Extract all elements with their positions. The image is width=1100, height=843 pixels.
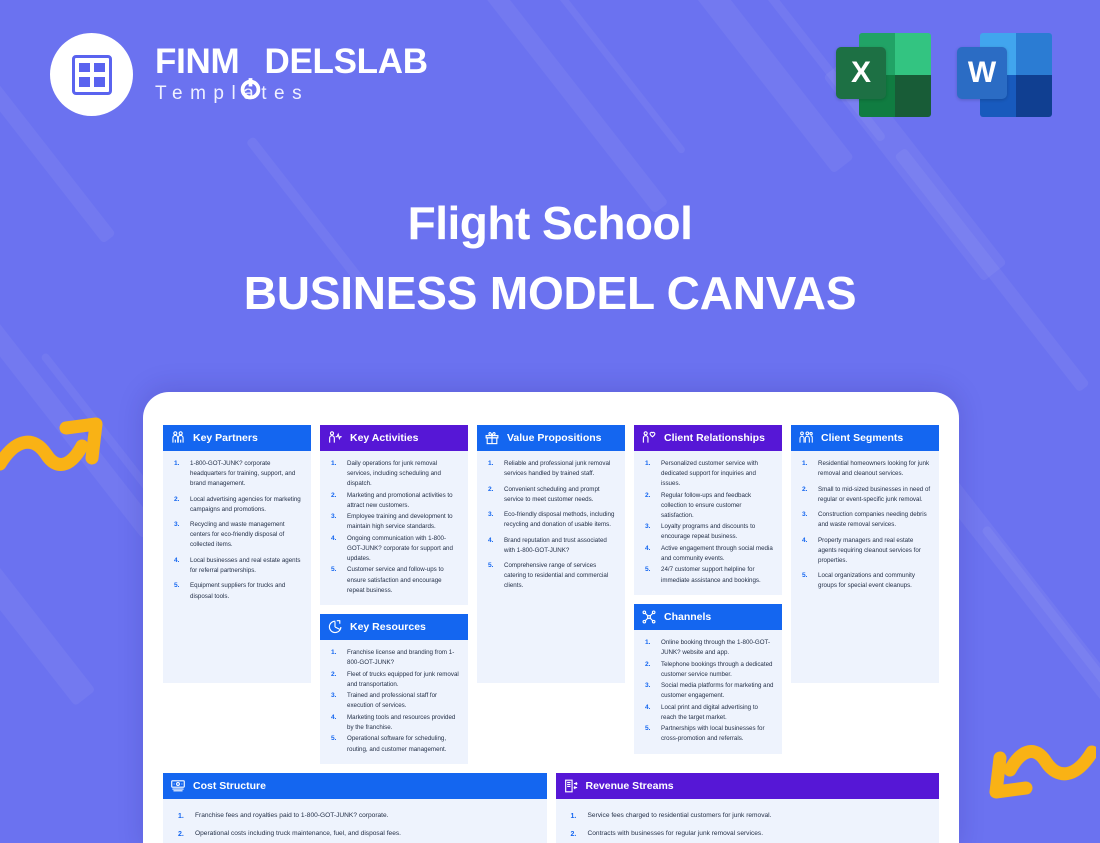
person-activity-icon [327, 430, 343, 446]
list-item: Customer service and follow-ups to ensur… [328, 565, 460, 595]
page-title: Flight School BUSINESS MODEL CANVAS [0, 196, 1100, 320]
business-model-canvas: Key Partners 1-800-GOT-JUNK? corporate h… [163, 425, 939, 843]
list-item: Eco-friendly disposal methods, including… [485, 510, 617, 530]
list-item: Construction companies needing debris an… [799, 510, 931, 530]
list-item: Local businesses and real estate agents … [171, 556, 303, 576]
canvas-top-row: Key Partners 1-800-GOT-JUNK? corporate h… [163, 425, 939, 764]
block-header: Cost Structure [163, 773, 547, 799]
canvas-column-value-propositions: Value Propositions Reliable and professi… [477, 425, 625, 764]
list-item: Reliable and professional junk removal s… [485, 459, 617, 479]
list-item: Recycling and waste management centers f… [171, 520, 303, 550]
page-title-line2: BUSINESS MODEL CANVAS [0, 266, 1100, 320]
block-key-resources[interactable]: Key Resources Franchise license and bran… [320, 614, 468, 764]
list-item: Regular follow-ups and feedback collecti… [642, 491, 774, 521]
list-item: Social media platforms for marketing and… [642, 681, 774, 701]
block-title: Cost Structure [193, 780, 266, 792]
block-title: Channels [664, 611, 711, 623]
block-title: Key Activities [350, 432, 418, 444]
curved-arrow-up-right-icon [0, 402, 126, 497]
list-item: Local organizations and community groups… [799, 571, 931, 591]
block-key-activities[interactable]: Key Activities Daily operations for junk… [320, 425, 468, 605]
banknote-icon [170, 778, 186, 794]
list-item: Operational costs including truck mainte… [173, 829, 537, 840]
pie-chart-icon [327, 619, 343, 635]
word-letter: W [957, 47, 1007, 99]
block-key-partners[interactable]: Key Partners 1-800-GOT-JUNK? corporate h… [163, 425, 311, 683]
list-item: Personalized customer service with dedic… [642, 459, 774, 489]
block-header: Key Partners [163, 425, 311, 451]
canvas-column-key-partners: Key Partners 1-800-GOT-JUNK? corporate h… [163, 425, 311, 764]
block-items: Franchise license and branding from 1-80… [320, 640, 468, 764]
list-item: Marketing and promotional activities to … [328, 491, 460, 511]
list-item: Partnerships with local businesses for c… [642, 724, 774, 744]
list-item: Local advertising agencies for marketing… [171, 495, 303, 515]
block-title: Key Resources [350, 621, 426, 633]
list-item: Franchise license and branding from 1-80… [328, 648, 460, 668]
block-items: Daily operations for junk removal servic… [320, 451, 468, 605]
block-items: Franchise fees and royalties paid to 1-8… [163, 799, 547, 843]
list-item: Service fees charged to residential cust… [566, 811, 930, 822]
list-item: Telephone bookings through a dedicated c… [642, 660, 774, 680]
list-item: 1-800-GOT-JUNK? corporate headquarters f… [171, 459, 303, 489]
word-file-icon[interactable]: W [957, 33, 1052, 117]
block-channels[interactable]: Channels Online booking through the 1-80… [634, 604, 782, 754]
logo-circle [50, 33, 133, 116]
list-item: Comprehensive range of services catering… [485, 561, 617, 591]
block-header: Client Segments [791, 425, 939, 451]
person-heart-icon [641, 430, 657, 446]
list-item: Marketing tools and resources provided b… [328, 713, 460, 733]
canvas-bottom-row: Cost Structure Franchise fees and royalt… [163, 773, 939, 843]
network-nodes-icon [641, 609, 657, 625]
brand-name: FINM DELSLAB [155, 44, 428, 80]
block-value-propositions[interactable]: Value Propositions Reliable and professi… [477, 425, 625, 683]
block-header: Key Resources [320, 614, 468, 640]
list-item: Local print and digital advertising to r… [642, 703, 774, 723]
excel-file-icon[interactable]: X [836, 33, 931, 117]
block-title: Client Segments [821, 432, 903, 444]
list-item: Active engagement through social media a… [642, 544, 774, 564]
list-item: Online booking through the 1-800-GOT-JUN… [642, 638, 774, 658]
list-item: Ongoing communication with 1-800-GOT-JUN… [328, 534, 460, 564]
block-items: Personalized customer service with dedic… [634, 451, 782, 595]
grid-squares-icon [72, 55, 112, 95]
list-item: Employee training and development to mai… [328, 512, 460, 532]
file-format-icons: X W [836, 33, 1052, 117]
block-items: Service fees charged to residential cust… [556, 799, 940, 843]
block-items: Online booking through the 1-800-GOT-JUN… [634, 630, 782, 754]
list-item: Small to mid-sized businesses in need of… [799, 485, 931, 505]
curved-arrow-down-left-icon [966, 730, 1096, 825]
block-client-relationships[interactable]: Client Relationships Personalized custom… [634, 425, 782, 595]
list-item: Property managers and real estate agents… [799, 536, 931, 566]
list-item: Loyalty programs and discounts to encour… [642, 522, 774, 542]
block-header: Key Activities [320, 425, 468, 451]
list-item: Operational software for scheduling, rou… [328, 734, 460, 754]
list-item: Franchise fees and royalties paid to 1-8… [173, 811, 537, 822]
page-title-line1: Flight School [0, 196, 1100, 250]
block-header: Client Relationships [634, 425, 782, 451]
canvas-column-client-segments: Client Segments Residential homeowners l… [791, 425, 939, 764]
block-title: Revenue Streams [586, 780, 674, 792]
two-people-icon [170, 430, 186, 446]
list-item: Fleet of trucks equipped for junk remova… [328, 670, 460, 690]
list-item: Brand reputation and trust associated wi… [485, 536, 617, 556]
block-client-segments[interactable]: Client Segments Residential homeowners l… [791, 425, 939, 683]
list-item: Trained and professional staff for execu… [328, 691, 460, 711]
canvas-column-client-relationships: Client Relationships Personalized custom… [634, 425, 782, 764]
gift-icon [484, 430, 500, 446]
block-items: 1-800-GOT-JUNK? corporate headquarters f… [163, 451, 311, 615]
excel-letter: X [836, 47, 886, 99]
canvas-column-key-activities: Key Activities Daily operations for junk… [320, 425, 468, 764]
brand-name-part1: FINM [155, 42, 239, 81]
block-items: Reliable and professional junk removal s… [477, 451, 625, 605]
block-items: Residential homeowners looking for junk … [791, 451, 939, 605]
block-header: Revenue Streams [556, 773, 940, 799]
block-title: Client Relationships [664, 432, 765, 444]
list-item: 24/7 customer support helpline for immed… [642, 565, 774, 585]
list-item: Contracts with businesses for regular ju… [566, 829, 930, 840]
list-item: Convenient scheduling and prompt service… [485, 485, 617, 505]
block-title: Value Propositions [507, 432, 602, 444]
block-cost-structure[interactable]: Cost Structure Franchise fees and royalt… [163, 773, 547, 843]
invoice-arrow-icon [563, 778, 579, 794]
block-header: Channels [634, 604, 782, 630]
block-header: Value Propositions [477, 425, 625, 451]
block-title: Key Partners [193, 432, 258, 444]
list-item: Daily operations for junk removal servic… [328, 459, 460, 489]
people-group-icon [798, 430, 814, 446]
list-item: Residential homeowners looking for junk … [799, 459, 931, 479]
list-item: Equipment suppliers for trucks and dispo… [171, 581, 303, 601]
block-revenue-streams[interactable]: Revenue Streams Service fees charged to … [556, 773, 940, 843]
brand-logo[interactable]: FINM DELSLAB Templates [50, 33, 428, 116]
tablet-frame: Key Partners 1-800-GOT-JUNK? corporate h… [143, 392, 959, 843]
brand-name-part2: DELSLAB [265, 42, 428, 81]
brand-tagline: Templates [155, 83, 428, 105]
